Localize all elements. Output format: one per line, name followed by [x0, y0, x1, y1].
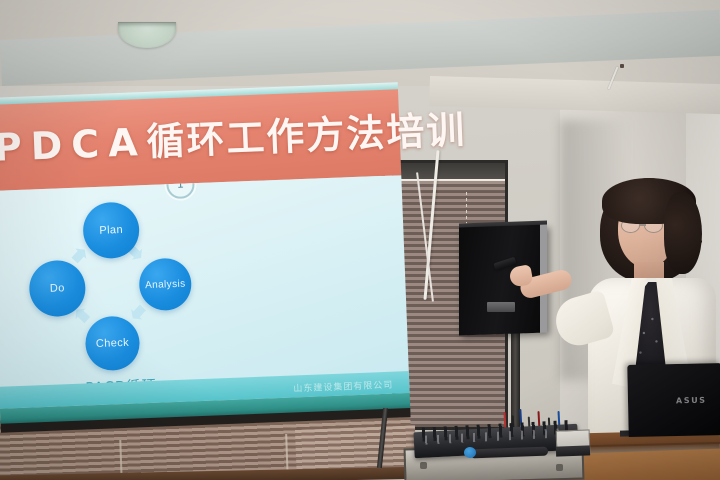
cycle-node-analysis: Analysis	[138, 257, 192, 311]
arrow-icon-bottom-right	[127, 302, 148, 323]
projection-screen[interactable]: PDCA循环工作方法培训 1 Plan Analysis Check	[0, 82, 410, 427]
slide-title-banner: PDCA循环工作方法培训	[0, 89, 401, 191]
ceiling-hook-anchor	[620, 64, 624, 68]
slide-watermark: 山东建设集团有限公司	[293, 378, 393, 395]
presentation-room-photo: PDCA循环工作方法培训 1 Plan Analysis Check	[0, 0, 720, 480]
slide-title-latin: PDCA	[0, 120, 147, 170]
presenter-hair-side	[664, 192, 702, 274]
cycle-node-check: Check	[84, 315, 140, 371]
equipment-box-base	[556, 445, 590, 456]
cycle-node-do-label: Do	[50, 282, 65, 295]
laptop-brand-logo: ASUS	[676, 396, 707, 406]
speaker-brand-badge	[487, 302, 515, 312]
flight-case-latch-right[interactable]	[556, 464, 563, 471]
flight-case-latch-left[interactable]	[420, 462, 427, 469]
cycle-node-check-label: Check	[96, 337, 130, 350]
cycle-node-analysis-label: Analysis	[145, 278, 186, 291]
cycle-node-do: Do	[28, 259, 86, 317]
arrow-icon-top-left	[69, 245, 90, 266]
glasses-icon-bridge	[639, 224, 646, 226]
pdca-cycle-diagram: Plan Analysis Check Do PACD循环	[14, 196, 220, 374]
slide-body: 1 Plan Analysis Check Do PA	[0, 175, 410, 409]
slide-title: PDCA循环工作方法培训	[0, 111, 467, 167]
cycle-node-plan-label: Plan	[99, 224, 123, 237]
